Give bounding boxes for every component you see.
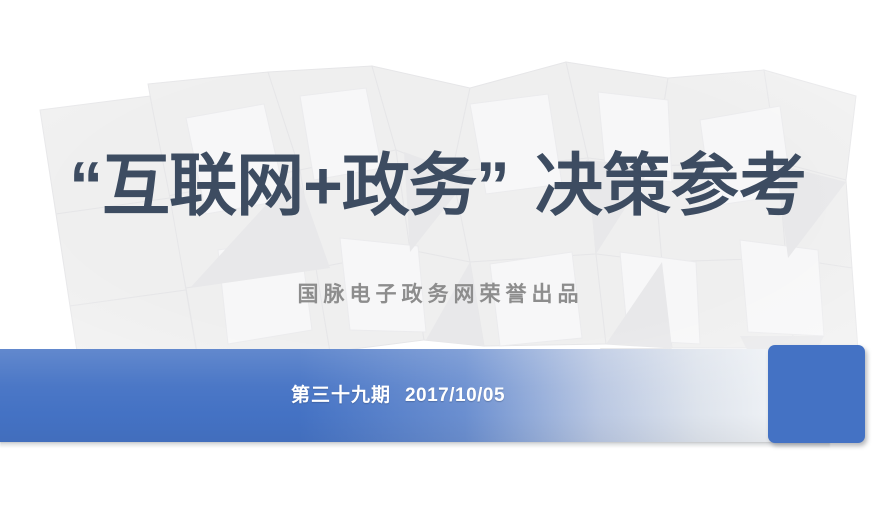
banner-caption: 第三十九期2017/10/05: [0, 383, 796, 409]
page-title-quoted: “互联网+政务”: [69, 148, 509, 224]
issue-date-label: 2017/10/05: [405, 385, 505, 406]
accent-block: [768, 345, 865, 443]
page-title: “互联网+政务”决策参考: [0, 146, 876, 226]
page-subtitle: 国脉电子政务网荣誉出品: [0, 281, 876, 309]
issue-number-label: 第三十九期: [291, 385, 391, 406]
banner-shadow: [0, 441, 830, 448]
slide-canvas: “互联网+政务”决策参考 国脉电子政务网荣誉出品 第三十九期2017/10/05: [0, 0, 876, 518]
page-title-tail: 决策参考: [535, 148, 807, 224]
